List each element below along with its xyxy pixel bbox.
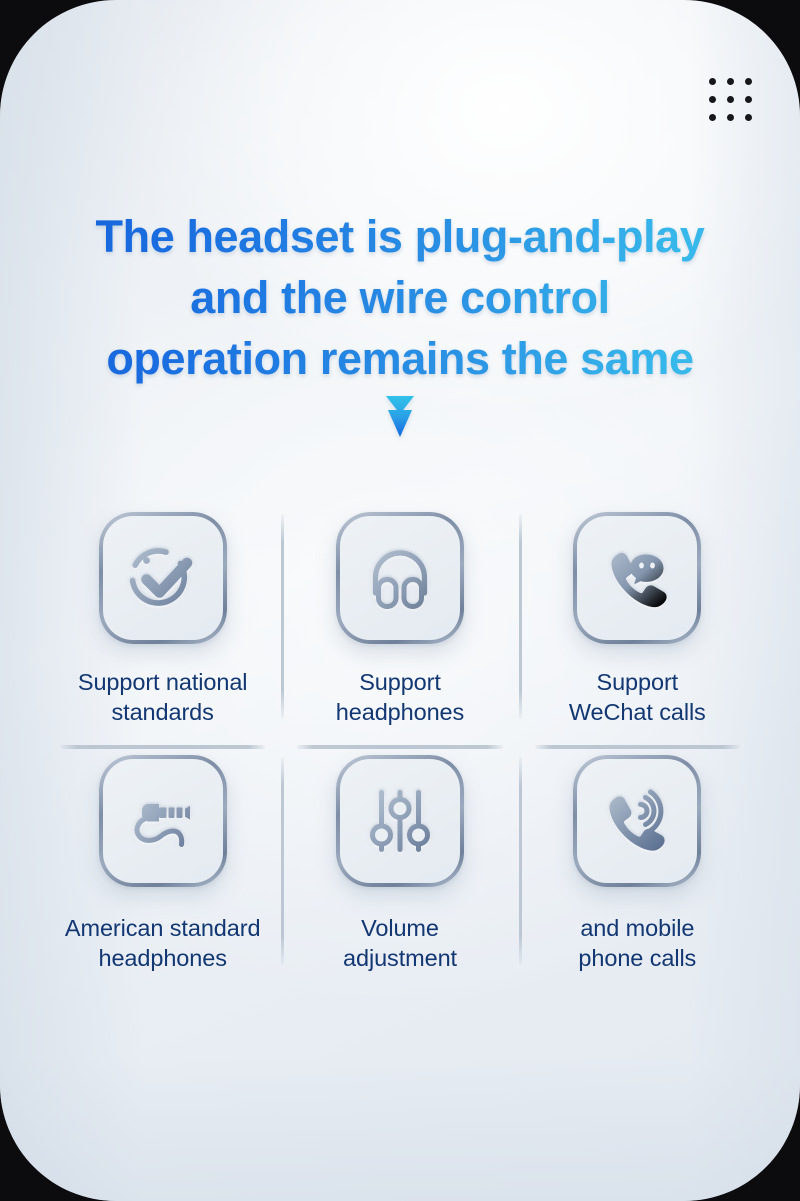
grid-dot [727,78,734,85]
page-root: The headset is plug-and-play and the wir… [0,0,800,1201]
grid-dot [745,114,752,121]
grid-dot [709,78,716,85]
feature-item-american-standard-headphones[interactable]: American standard headphones [44,743,281,989]
audio-jack-cable-icon-tile[interactable] [99,755,227,887]
grid-dots-icon[interactable] [709,78,752,121]
feature-item-mobile-phone-calls[interactable]: and mobile phone calls [519,743,756,989]
feature-label: Support WeChat calls [569,667,706,727]
feature-label: and mobile phone calls [578,913,696,973]
feature-item-support-national-standards[interactable]: Support national standards [44,500,281,743]
phone-chat-icon-tile[interactable] [573,512,701,644]
feature-item-volume-adjustment[interactable]: Volume adjustment [281,743,518,989]
audio-jack-cable-icon [125,784,201,858]
grid-dot [709,114,716,121]
feature-label: Support headphones [336,667,464,727]
sliders-icon [363,784,437,858]
feature-label: American standard headphones [65,913,261,973]
feature-label: Volume adjustment [343,913,457,973]
headphones-icon [363,541,437,615]
feature-item-support-headphones[interactable]: Support headphones [281,500,518,743]
product-feature-card: The headset is plug-and-play and the wir… [0,0,800,1201]
phone-ringing-icon-tile[interactable] [573,755,701,887]
grid-dot [745,78,752,85]
feature-grid: Support national standards [44,500,756,989]
phone-chat-icon [600,541,674,615]
grid-dot [727,96,734,103]
page-title: The headset is plug-and-play and the wir… [0,206,800,389]
grid-dot [727,114,734,121]
phone-ringing-icon [600,784,674,858]
headphones-icon-tile[interactable] [336,512,464,644]
sliders-icon-tile[interactable] [336,755,464,887]
check-circle-icon-tile[interactable] [99,512,227,644]
grid-dot [709,96,716,103]
arrow-down-icon [0,393,800,439]
feature-label: Support national standards [78,667,248,727]
check-circle-icon [126,541,200,615]
grid-dot [745,96,752,103]
feature-item-support-wechat-calls[interactable]: Support WeChat calls [519,500,756,743]
